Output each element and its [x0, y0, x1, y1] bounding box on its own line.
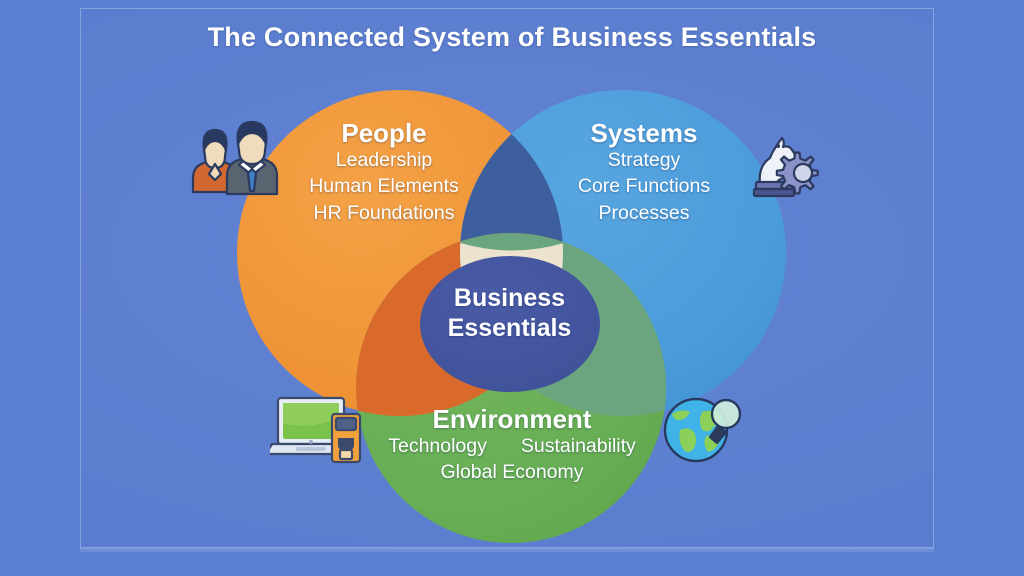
systems-item-0: Strategy — [544, 147, 744, 173]
systems-item-2: Processes — [544, 200, 744, 226]
people-heading: People — [286, 120, 482, 147]
people-label-group: People Leadership Human Elements HR Foun… — [286, 120, 482, 226]
globe-magnifier-icon — [660, 392, 750, 464]
slide-canvas: The Connected System of Business Essenti… — [0, 0, 1024, 576]
people-item-0: Leadership — [286, 147, 482, 173]
environment-item-1: Sustainability — [521, 433, 636, 459]
systems-heading: Systems — [544, 120, 744, 147]
systems-item-1: Core Functions — [544, 173, 744, 199]
systems-label-group: Systems Strategy Core Functions Processe… — [544, 120, 744, 226]
environment-heading: Environment — [362, 406, 662, 433]
laptop-fuel-pump-icon — [270, 392, 374, 470]
chess-knight-gear-icon — [748, 122, 834, 200]
center-line-2: Essentials — [407, 313, 612, 343]
page-title: The Connected System of Business Essenti… — [0, 22, 1024, 53]
center-line-1: Business — [407, 283, 612, 313]
environment-item-row: Technology Sustainability — [362, 433, 662, 459]
people-item-2: HR Foundations — [286, 200, 482, 226]
two-people-icon — [183, 112, 279, 196]
environment-item-2: Global Economy — [362, 459, 662, 485]
environment-item-0: Technology — [388, 433, 487, 459]
center-label-group: Business Essentials — [407, 283, 612, 343]
people-item-1: Human Elements — [286, 173, 482, 199]
environment-label-group: Environment Technology Sustainability Gl… — [362, 406, 662, 486]
